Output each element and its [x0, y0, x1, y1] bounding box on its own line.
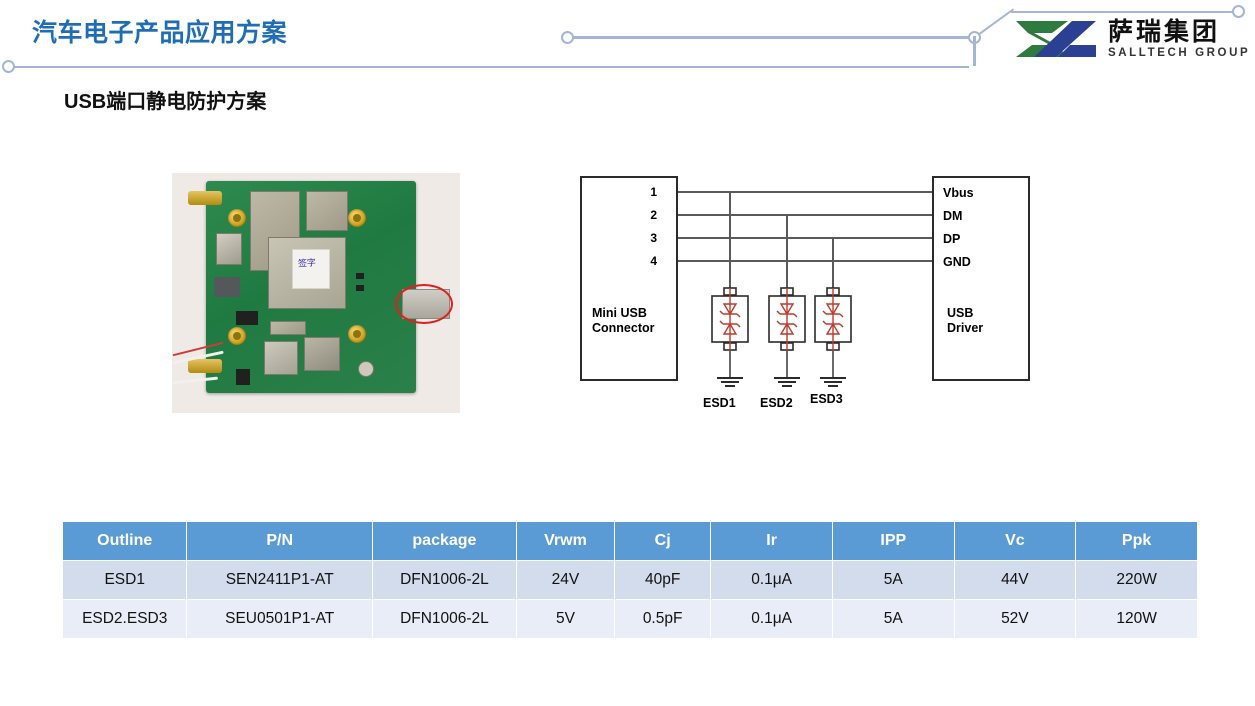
usb-driver-caption: USB Driver	[947, 306, 983, 336]
brand-logo: 萨瑞集团 SALLTECH GROUP	[1012, 14, 1252, 64]
logo-cn-name: 萨瑞集团	[1108, 19, 1250, 46]
pcb-module-scrawl: 签字	[298, 259, 316, 267]
esd-label-3: ESD3	[810, 392, 843, 406]
deco-line-vertical	[973, 36, 976, 66]
cell-vrwm: 5V	[516, 600, 614, 639]
esd-spec-table: Outline P/N package Vrwm Cj Ir IPP Vc Pp…	[62, 521, 1198, 639]
esd-label-2: ESD2	[760, 396, 793, 410]
usb-driver-box	[932, 176, 1030, 381]
col-header-ipp: IPP	[833, 522, 955, 561]
pcb-gold-pad	[228, 209, 246, 227]
col-header-vc: Vc	[954, 522, 1076, 561]
col-header-vrwm: Vrwm	[516, 522, 614, 561]
pcb-power-jack	[214, 277, 240, 297]
pcb-ic	[236, 311, 258, 325]
table-row: ESD2.ESD3 SEU0501P1-AT DFN1006-2L 5V 0.5…	[63, 600, 1198, 639]
cell-ir: 0.1μA	[711, 561, 833, 600]
esd-component-3	[809, 286, 857, 396]
cell-ppk: 220W	[1076, 561, 1198, 600]
pin-number-3: 3	[635, 231, 657, 245]
usb-driver-caption-line2: Driver	[947, 321, 983, 336]
usb-esd-circuit-diagram: Mini USB Connector 1 2 3 4 Vbus DM DP GN…	[575, 168, 1035, 418]
mini-usb-connector-box	[580, 176, 678, 381]
deco-line-diagonal	[979, 8, 1014, 34]
cell-pn: SEU0501P1-AT	[187, 600, 373, 639]
cell-ir: 0.1μA	[711, 600, 833, 639]
section-heading: USB端口静电防护方案	[64, 85, 266, 114]
esd-label-1: ESD1	[703, 396, 736, 410]
rail-label-vbus: Vbus	[943, 186, 974, 200]
cell-outline: ESD2.ESD3	[63, 600, 187, 639]
deco-line-bottom	[14, 66, 969, 69]
pcb-gold-pad	[348, 209, 366, 227]
wire-dp	[678, 237, 932, 239]
col-header-outline: Outline	[63, 522, 187, 561]
col-header-ir: Ir	[711, 522, 833, 561]
cell-ipp: 5A	[833, 561, 955, 600]
usb-driver-caption-line1: USB	[947, 306, 983, 321]
deco-line-topright	[1011, 11, 1234, 14]
esd3-tap-wire	[832, 237, 834, 292]
pcb-gold-pad	[348, 325, 366, 343]
esd1-tap-wire	[729, 191, 731, 292]
pcb-sma-connector	[188, 359, 222, 373]
mini-usb-caption-line2: Connector	[592, 321, 655, 336]
col-header-pn: P/N	[187, 522, 373, 561]
pcb-board: 签字	[206, 181, 416, 393]
deco-circle-mid-left	[561, 31, 574, 44]
pin-number-2: 2	[635, 208, 657, 222]
mini-usb-caption-line1: Mini USB	[592, 306, 655, 321]
pcb-sma-connector	[188, 191, 222, 205]
deco-circle-left	[2, 60, 15, 73]
pin-number-1: 1	[635, 185, 657, 199]
cell-cj: 40pF	[615, 561, 711, 600]
deco-line-upper	[573, 36, 973, 39]
pcb-sd-slot	[304, 337, 340, 371]
esd-component-1	[706, 286, 754, 396]
pcb-shield-small	[306, 191, 348, 231]
cell-vrwm: 24V	[516, 561, 614, 600]
table-header-row: Outline P/N package Vrwm Cj Ir IPP Vc Pp…	[63, 522, 1198, 561]
col-header-cj: Cj	[615, 522, 711, 561]
pcb-module-label: 签字	[292, 249, 330, 289]
wire-gnd	[678, 260, 932, 262]
pcb-part-strip	[270, 321, 306, 335]
mini-usb-connector-caption: Mini USB Connector	[592, 306, 655, 336]
pcb-photo: 签字	[172, 173, 460, 413]
pcb-connector-can	[216, 233, 242, 265]
esd2-tap-wire	[786, 214, 788, 292]
tvs-diode-symbol-2	[763, 286, 811, 391]
esd-component-2	[763, 286, 811, 396]
pcb-round-part	[358, 361, 374, 377]
cell-cj: 0.5pF	[615, 600, 711, 639]
cell-outline: ESD1	[63, 561, 187, 600]
pcb-sim-slot	[264, 341, 298, 375]
cell-ipp: 5A	[833, 600, 955, 639]
pcb-gold-pad	[228, 327, 246, 345]
salltech-logo-mark	[1012, 17, 1100, 61]
table-row: ESD1 SEN2411P1-AT DFN1006-2L 24V 40pF 0.…	[63, 561, 1198, 600]
rail-label-dm: DM	[943, 209, 962, 223]
pin-number-4: 4	[635, 254, 657, 268]
cell-package: DFN1006-2L	[372, 600, 516, 639]
cell-vc: 52V	[954, 600, 1076, 639]
pcb-switch	[236, 369, 250, 385]
tvs-diode-symbol-3	[809, 286, 857, 391]
wire-vbus	[678, 191, 932, 193]
wire-dm	[678, 214, 932, 216]
pcb-highlight-ellipse	[395, 284, 453, 324]
rail-label-dp: DP	[943, 232, 960, 246]
pcb-smd	[356, 285, 364, 291]
col-header-package: package	[372, 522, 516, 561]
pcb-smd	[356, 273, 364, 279]
tvs-diode-symbol-1	[706, 286, 754, 391]
page-title: 汽车电子产品应用方案	[32, 13, 287, 49]
col-header-ppk: Ppk	[1076, 522, 1198, 561]
cell-package: DFN1006-2L	[372, 561, 516, 600]
cell-ppk: 120W	[1076, 600, 1198, 639]
rail-label-gnd: GND	[943, 255, 971, 269]
logo-en-name: SALLTECH GROUP	[1108, 46, 1250, 60]
cell-vc: 44V	[954, 561, 1076, 600]
cell-pn: SEN2411P1-AT	[187, 561, 373, 600]
